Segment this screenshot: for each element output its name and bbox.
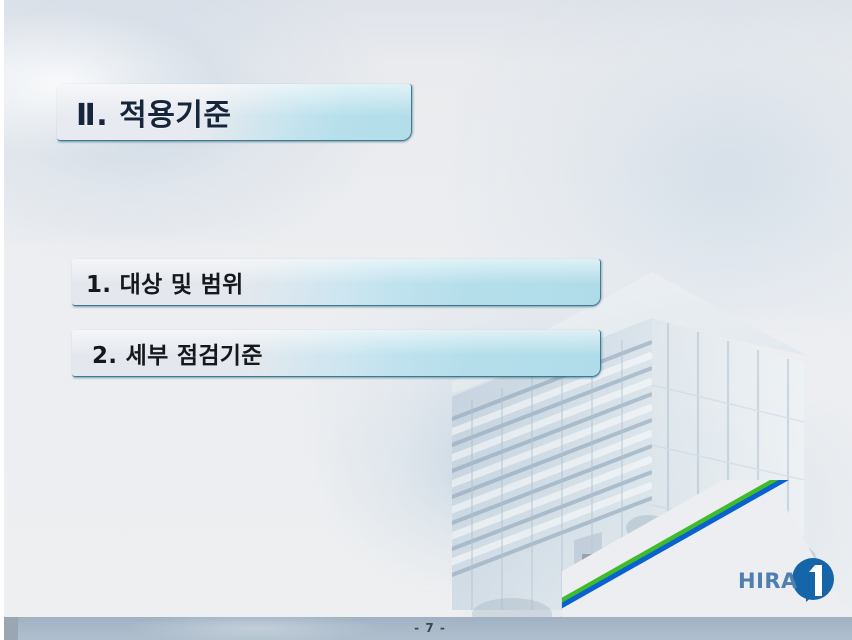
background-wash-center bbox=[334, 390, 634, 580]
agenda-item-2[interactable]: 2. 세부 점검기준 bbox=[72, 330, 601, 377]
slide-title-banner: Ⅱ. 적용기준 bbox=[57, 84, 412, 141]
agenda-item-1-label: 1. 대상 및 범위 bbox=[86, 265, 244, 299]
footer-bar: - 7 - bbox=[4, 617, 852, 640]
presentation-slide: Ⅱ. 적용기준 1. 대상 및 범위 2. 세부 점검기준 HIRA bbox=[0, 0, 852, 640]
agenda-item-2-label: 2. 세부 점검기준 bbox=[92, 336, 263, 370]
slide-canvas: Ⅱ. 적용기준 1. 대상 및 범위 2. 세부 점검기준 HIRA bbox=[4, 0, 852, 640]
page-title: Ⅱ. 적용기준 bbox=[76, 90, 232, 134]
agenda-item-1[interactable]: 1. 대상 및 범위 bbox=[72, 259, 601, 306]
hira-logo: HIRA bbox=[738, 552, 842, 610]
page-number: - 7 - bbox=[4, 617, 852, 640]
hira-logo-text: HIRA bbox=[738, 569, 798, 593]
